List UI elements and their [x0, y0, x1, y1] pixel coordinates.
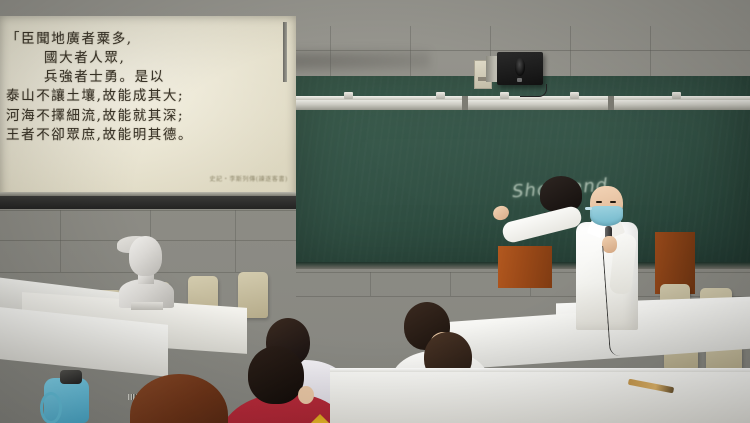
- rail-clip: [570, 92, 579, 99]
- speaker-indicator: [517, 78, 522, 82]
- bust-head: [129, 236, 162, 276]
- mask-strap: [585, 207, 592, 210]
- mortar-line: [330, 26, 331, 76]
- student-ear: [298, 386, 314, 404]
- classroom-photo: 「臣聞地廣者粟多, 國大者人眾, 兵強者士勇。是以 泰山不讓土壤,故能成其大; …: [0, 0, 750, 423]
- bottle-cap-icon: [60, 370, 82, 384]
- mortar-line: [450, 272, 451, 296]
- rail-clip: [436, 92, 445, 99]
- rail-clip: [672, 92, 681, 99]
- slide-source-caption: 史記‧李斯列傳(諫逐客書): [210, 174, 288, 183]
- slide-line-5: 河海不擇細流,故能就其深;: [6, 107, 292, 126]
- slide-line-2: 國大者人眾,: [6, 49, 292, 68]
- speaker-cable: [520, 84, 547, 97]
- screen-frame: CANON: [0, 196, 296, 209]
- mortar-line: [0, 210, 296, 211]
- rail-clip: [344, 92, 353, 99]
- mortar-line: [650, 26, 651, 76]
- bottle-strap: [40, 392, 62, 423]
- plaster-bust-statue: [117, 236, 177, 308]
- projector-mount-arm: [283, 22, 287, 82]
- rail-gap: [608, 96, 614, 110]
- slide-line-1: 「臣聞地廣者粟多,: [6, 30, 292, 49]
- mortar-line: [410, 26, 411, 76]
- mortar-line: [370, 272, 371, 296]
- face-mask-icon: [590, 206, 623, 226]
- rail-clip: [500, 92, 509, 99]
- wall-speaker-icon: [497, 52, 543, 85]
- rail-gap: [462, 96, 468, 110]
- slide-line-4: 泰山不讓土壤,故能成其大;: [6, 87, 292, 106]
- projection-screen: 「臣聞地廣者粟多, 國大者人眾, 兵強者士勇。是以 泰山不讓土壤,故能成其大; …: [0, 16, 296, 201]
- chalkboard-top-rail: [296, 100, 750, 110]
- teacher-hair: [540, 176, 582, 212]
- mortar-line: [235, 210, 236, 272]
- front-table: [330, 372, 750, 423]
- speaker-cone: [515, 58, 525, 76]
- mortar-line: [296, 50, 750, 51]
- slide-text-block: 「臣聞地廣者粟多, 國大者人眾, 兵強者士勇。是以 泰山不讓土壤,故能成其大; …: [6, 30, 292, 145]
- bust-base: [131, 302, 163, 310]
- mortar-line: [570, 26, 571, 76]
- student-head: [248, 346, 304, 404]
- mortar-line: [60, 210, 61, 272]
- slide-line-3: 兵強者士勇。是以: [6, 68, 292, 87]
- slide-line-6: 王者不卻眾庶,故能明其德。: [6, 126, 292, 145]
